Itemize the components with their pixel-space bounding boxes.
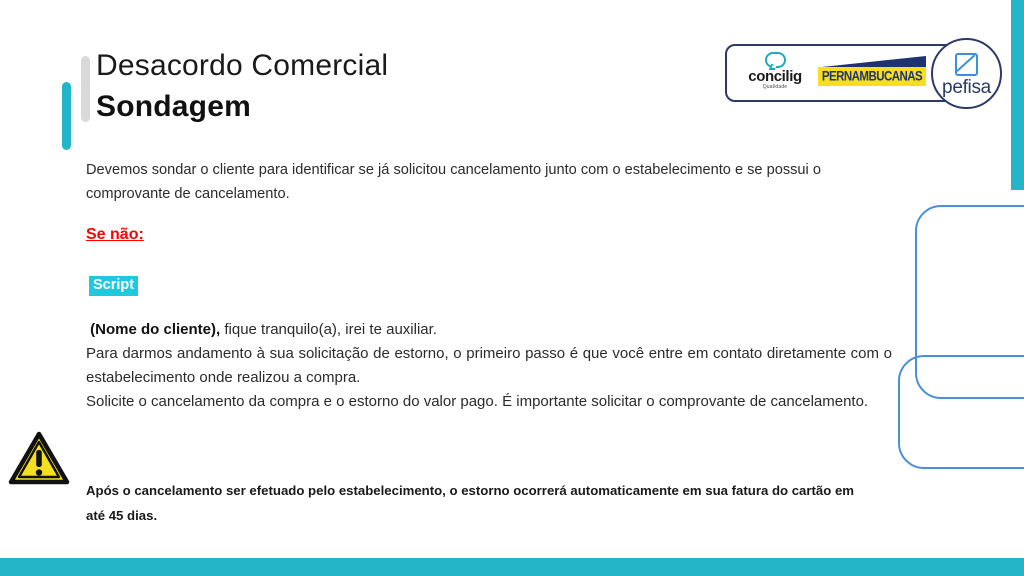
script-greeting-line: (Nome do cliente), fique tranquilo(a), i…: [86, 318, 892, 342]
pefisa-logo: pefisa: [931, 38, 1002, 109]
page-title-primary: Desacordo Comercial: [96, 46, 388, 86]
concilig-logo-tagline: Qualidade: [738, 84, 812, 91]
warning-triangle-icon: [8, 430, 70, 486]
script-badge: Script: [89, 276, 138, 296]
teal-right-accent-bar: [1011, 0, 1024, 190]
pernambucanas-yellow-band: PERNAMBUCANAS: [818, 67, 926, 86]
script-step-line-1: Para darmos andamento à sua solicitação …: [86, 342, 892, 390]
speech-bubble-icon: [765, 52, 786, 68]
concilig-logo: concilig Qualidade: [738, 50, 812, 96]
pefisa-logo-wordmark: pefisa: [933, 77, 1000, 99]
script-greeting-placeholder: (Nome do cliente),: [90, 321, 220, 338]
page-title-secondary: Sondagem: [96, 86, 388, 128]
pefisa-square-icon: [955, 53, 978, 76]
title-accent-bar-teal: [62, 82, 71, 150]
pernambucanas-logo-wordmark: PERNAMBUCANAS: [822, 69, 922, 83]
script-body: (Nome do cliente), fique tranquilo(a), i…: [86, 318, 892, 414]
script-step-line-2: Solicite o cancelamento da compra e o es…: [86, 390, 892, 414]
title-accent-bar-gray: [81, 56, 90, 122]
blue-rounded-shape-bottom: [898, 355, 1024, 469]
pernambucanas-logo: PERNAMBUCANAS: [818, 56, 926, 90]
concilig-logo-wordmark: concilig: [738, 69, 812, 84]
pernambucanas-swoosh-shape: [822, 56, 926, 67]
teal-bottom-accent-bar: [0, 558, 1024, 576]
script-greeting-rest: fique tranquilo(a), irei te auxiliar.: [220, 321, 437, 338]
footer-note: Após o cancelamento ser efetuado pelo es…: [86, 478, 876, 528]
intro-paragraph: Devemos sondar o cliente para identifica…: [86, 158, 898, 206]
condition-heading: Se não:: [86, 226, 144, 244]
slide-canvas: Desacordo Comercial Sondagem concilig Qu…: [0, 0, 1024, 576]
